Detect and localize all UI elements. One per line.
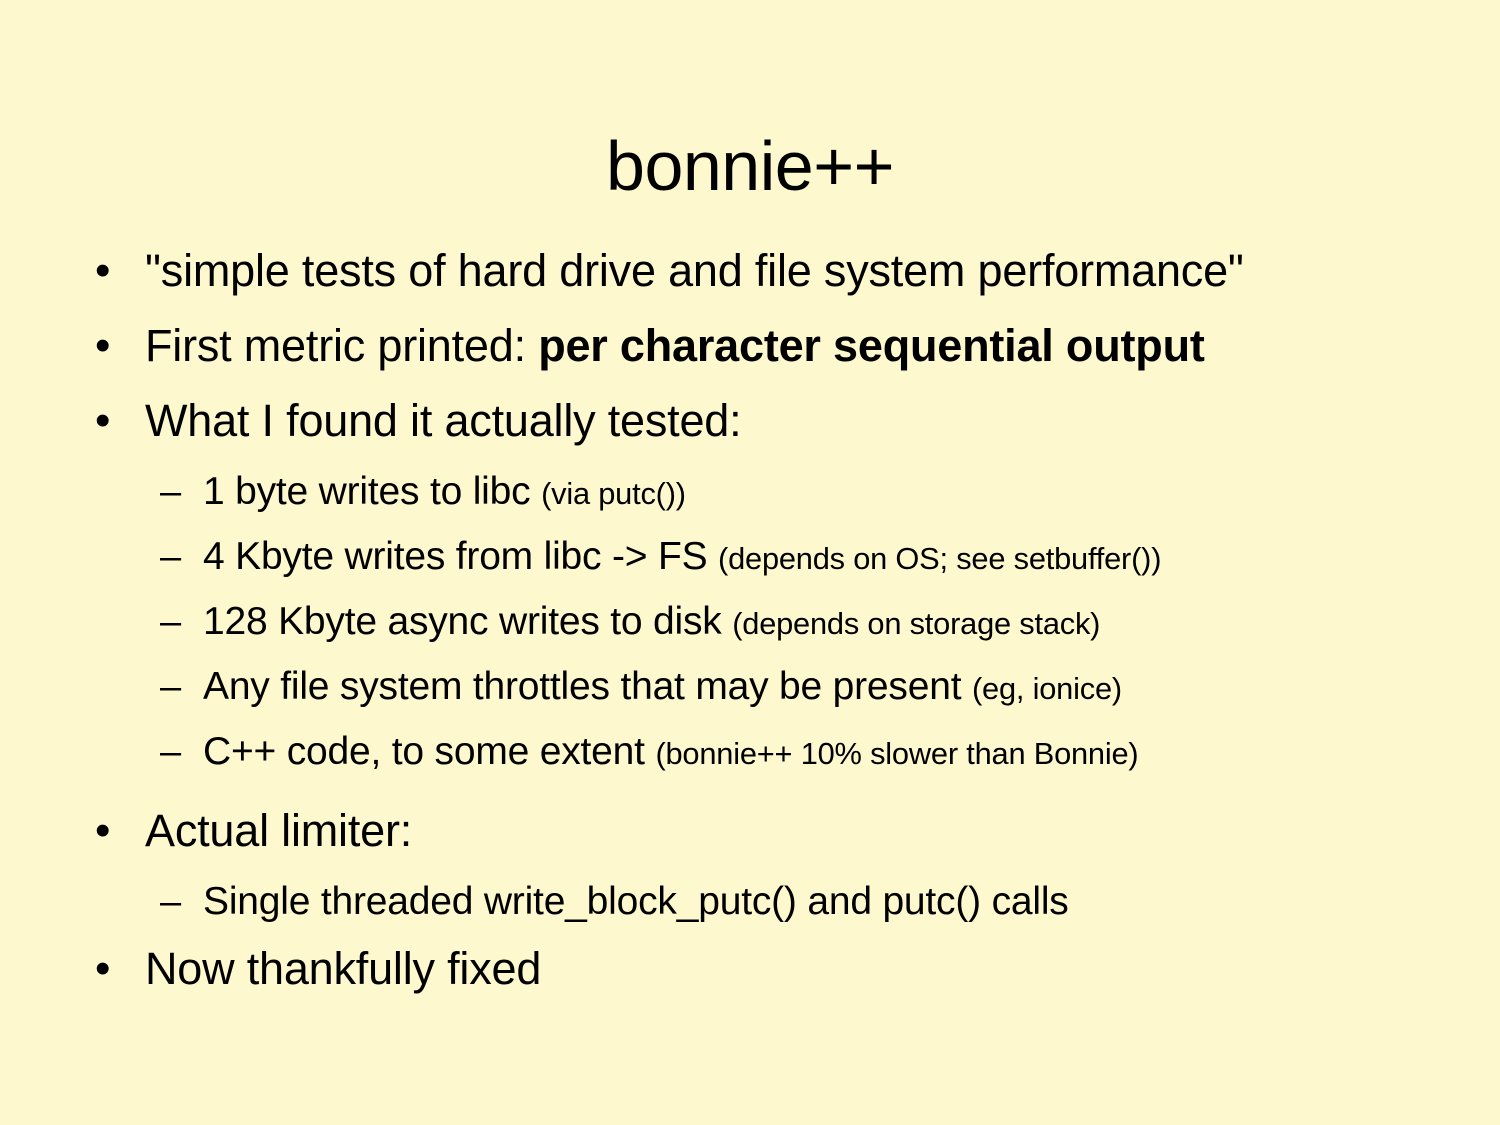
sub-list-item-note: (bonnie++ 10% slower than Bonnie) <box>655 736 1138 771</box>
list-item: • "simple tests of hard drive and file s… <box>0 236 1440 305</box>
bullet-icon: • <box>88 796 145 865</box>
sub-list-item: – Any file system throttles that may be … <box>0 656 1440 720</box>
sub-list-item-note: (depends on storage stack) <box>732 606 1100 641</box>
sub-list-item-text: Any file system throttles that may be pr… <box>203 665 972 708</box>
sub-list-item-note: (via putc()) <box>541 476 686 511</box>
list-item: • First metric printed: per character se… <box>0 311 1440 380</box>
presentation-slide: bonnie++ • "simple tests of hard drive a… <box>0 0 1500 1125</box>
sub-list-item-note: (depends on OS; see setbuffer()) <box>718 541 1161 576</box>
sub-list-item-text: 4 Kbyte writes from libc -> FS <box>203 535 718 578</box>
bullet-icon: • <box>88 386 145 455</box>
dash-bullet-icon: – <box>160 526 203 588</box>
list-item-label: First metric printed: per character sequ… <box>145 311 1205 380</box>
sub-list-item-text: 1 byte writes to libc <box>203 470 541 513</box>
list-item: • What I found it actually tested: <box>0 386 1440 455</box>
sub-list-item: – 4 Kbyte writes from libc -> FS (depend… <box>0 526 1440 590</box>
bullet-icon: • <box>88 311 145 380</box>
page-title: bonnie++ <box>0 131 1500 201</box>
sub-list-item-text: 128 Kbyte async writes to disk <box>203 600 732 643</box>
list-item-text-bold: per character sequential output <box>538 320 1204 371</box>
dash-bullet-icon: – <box>160 461 203 523</box>
list-item: • Now thankfully fixed <box>0 934 1440 1003</box>
sub-list-item-label: Single threaded write_block_putc() and p… <box>203 871 1069 933</box>
sub-list-item-note: (eg, ionice) <box>972 671 1122 706</box>
sub-list-item: – C++ code, to some extent (bonnie++ 10%… <box>0 721 1440 785</box>
sub-list-item: – 1 byte writes to libc (via putc()) <box>0 461 1440 525</box>
sub-list-item: – 128 Kbyte async writes to disk (depend… <box>0 591 1440 655</box>
sub-list-item-label: Any file system throttles that may be pr… <box>203 656 1122 720</box>
sub-list-item-label: C++ code, to some extent (bonnie++ 10% s… <box>203 721 1139 785</box>
dash-bullet-icon: – <box>160 721 203 783</box>
list-item-text-plain: First metric printed: <box>145 320 538 371</box>
dash-bullet-icon: – <box>160 591 203 653</box>
bullet-icon: • <box>88 236 145 305</box>
list-item-label: Actual limiter: <box>145 796 412 865</box>
section-spacer <box>0 786 1440 796</box>
dash-bullet-icon: – <box>160 871 203 933</box>
sub-list-item-text: C++ code, to some extent <box>203 730 655 773</box>
dash-bullet-icon: – <box>160 656 203 718</box>
sub-list-item-label: 1 byte writes to libc (via putc()) <box>203 461 686 525</box>
list-item-label: Now thankfully fixed <box>145 934 541 1003</box>
list-item-label: What I found it actually tested: <box>145 386 741 455</box>
bullet-icon: • <box>88 934 145 1003</box>
sub-list-item-label: 128 Kbyte async writes to disk (depends … <box>203 591 1100 655</box>
sub-list-item: – Single threaded write_block_putc() and… <box>0 871 1440 933</box>
slide-body-content: • "simple tests of hard drive and file s… <box>0 236 1440 1009</box>
list-item: • Actual limiter: <box>0 796 1440 865</box>
list-item-label: "simple tests of hard drive and file sys… <box>145 236 1244 305</box>
sub-list-item-label: 4 Kbyte writes from libc -> FS (depends … <box>203 526 1161 590</box>
